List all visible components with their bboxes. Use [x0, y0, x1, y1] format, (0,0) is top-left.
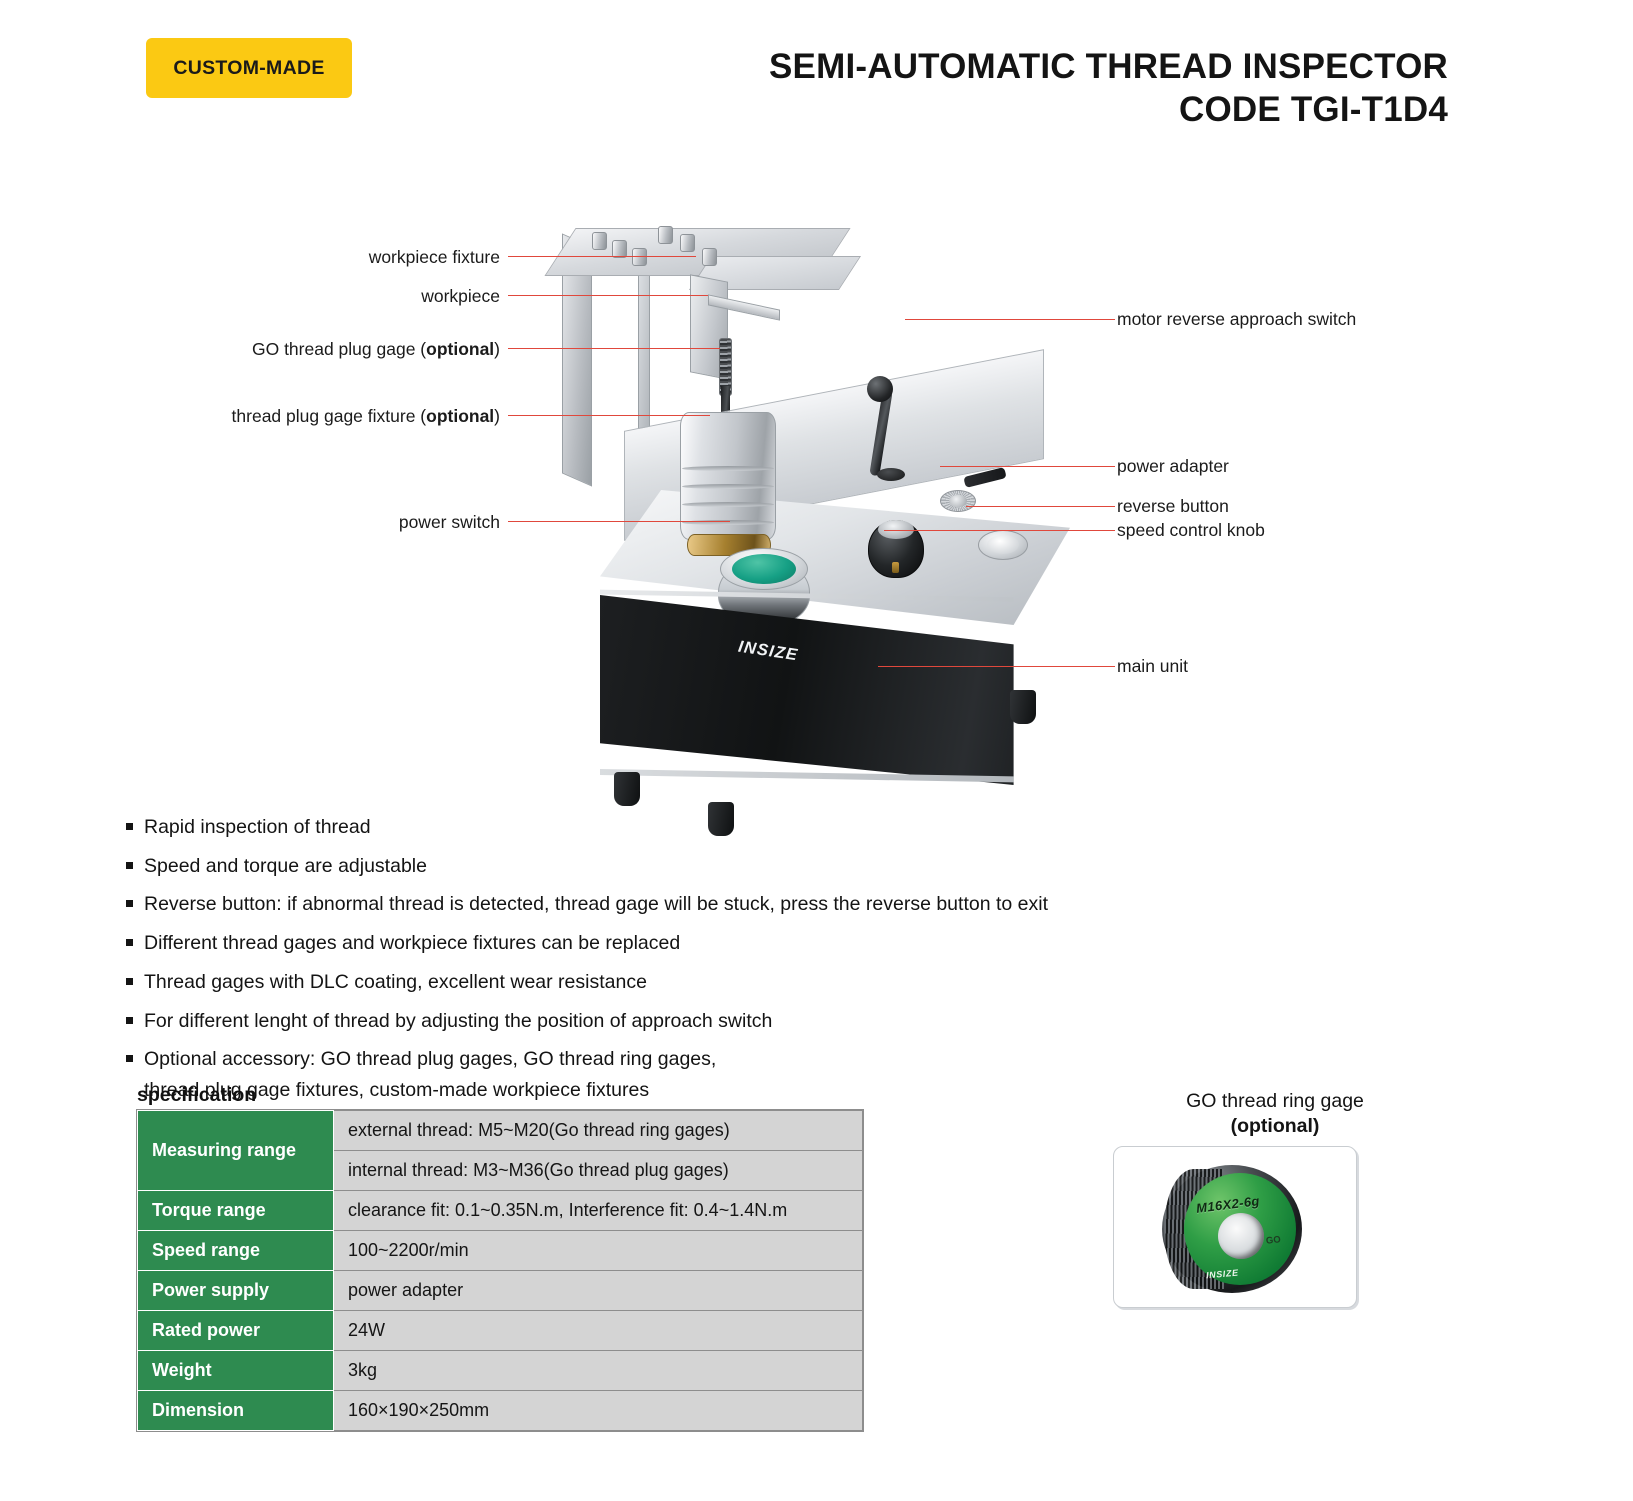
callout-reverse-button: reverse button: [1117, 498, 1229, 516]
table-row: Rated power 24W: [138, 1311, 863, 1351]
machine-drawing: INSIZE: [540, 190, 1100, 810]
go-thread-ring-gage: M16X2-6g GO INSIZE: [1162, 1165, 1302, 1293]
product-illustration: INSIZE workpiece fixture workpiece GO th…: [0, 170, 1633, 820]
feature-item: Optional accessory: GO thread plug gages…: [126, 1044, 1226, 1104]
feature-item: Thread gages with DLC coating, excellent…: [126, 967, 1226, 997]
accessory-caption: GO thread ring gage (optional): [1090, 1089, 1460, 1140]
leader-line: [940, 466, 1115, 467]
specification-table: Measuring range external thread: M5~M20(…: [137, 1110, 863, 1431]
accessory-caption-line2: (optional): [1231, 1115, 1320, 1137]
spec-value: 24W: [334, 1311, 863, 1351]
page-title-line1: SEMI-AUTOMATIC THREAD INSPECTOR: [769, 46, 1448, 89]
spec-key: Measuring range: [138, 1111, 334, 1191]
page-title: SEMI-AUTOMATIC THREAD INSPECTOR CODE TGI…: [769, 46, 1448, 131]
table-row: Weight 3kg: [138, 1351, 863, 1391]
bolt-cap-icon: [658, 226, 673, 244]
cylinder-groove: [682, 502, 774, 507]
page-title-line2: CODE TGI-T1D4: [769, 89, 1448, 132]
spec-key: Rated power: [138, 1311, 334, 1351]
lever-knob: [867, 376, 893, 402]
accessory-image-frame: M16X2-6g GO INSIZE: [1113, 1146, 1357, 1308]
bolt-cap-icon: [702, 248, 717, 266]
bolt-cap-icon: [680, 234, 695, 252]
spec-key: Power supply: [138, 1271, 334, 1311]
table-row: Torque range clearance fit: 0.1~0.35N.m,…: [138, 1191, 863, 1231]
spec-key: Weight: [138, 1351, 334, 1391]
bolt-cap-icon: [632, 248, 647, 266]
leader-line: [905, 319, 1115, 320]
bolt-cap-icon: [592, 232, 607, 250]
accessory-caption-line1: GO thread ring gage: [1090, 1089, 1460, 1114]
spec-key: Speed range: [138, 1231, 334, 1271]
speed-knob-pointer: [892, 562, 899, 573]
ring-gage-bore: [1218, 1213, 1264, 1259]
spec-value: 100~2200r/min: [334, 1231, 863, 1271]
callout-workpiece-fixture: workpiece fixture: [80, 249, 500, 267]
callout-thread-plug-gage-fixture: thread plug gage fixture (optional): [40, 408, 500, 426]
leader-line: [884, 530, 1115, 531]
table-row: Speed range 100~2200r/min: [138, 1231, 863, 1271]
leader-line: [508, 256, 696, 257]
spec-value: clearance fit: 0.1~0.35N.m, Interference…: [334, 1191, 863, 1231]
leader-line: [508, 295, 708, 296]
leader-line: [508, 521, 730, 522]
callout-power-adapter: power adapter: [1117, 458, 1229, 476]
custom-made-badge: CUSTOM-MADE: [146, 38, 352, 98]
cylinder-groove: [682, 466, 774, 471]
callout-workpiece: workpiece: [80, 288, 500, 306]
lever-foot: [877, 468, 905, 481]
spec-key: Dimension: [138, 1391, 334, 1431]
datasheet-page: CUSTOM-MADE SEMI-AUTOMATIC THREAD INSPEC…: [0, 0, 1633, 1501]
feature-item: For different lenght of thread by adjust…: [126, 1006, 1226, 1036]
spec-value: external thread: M5~M20(Go thread ring g…: [334, 1111, 863, 1151]
spec-key: Torque range: [138, 1191, 334, 1231]
specification-heading: specification: [137, 1084, 256, 1107]
spec-value: power adapter: [334, 1271, 863, 1311]
spec-value: 160×190×250mm: [334, 1391, 863, 1431]
custom-made-badge-label: CUSTOM-MADE: [173, 57, 324, 80]
callout-power-switch: power switch: [200, 514, 500, 532]
leader-line: [508, 415, 710, 416]
machine-foot: [614, 772, 640, 806]
leader-line: [966, 506, 1115, 507]
feature-item: Reverse button: if abnormal thread is de…: [126, 889, 1226, 919]
reverse-button-cap: [987, 535, 1019, 554]
leader-line: [508, 348, 720, 349]
callout-motor-reverse-approach-switch: motor reverse approach switch: [1117, 311, 1356, 329]
table-row: Power supply power adapter: [138, 1271, 863, 1311]
callout-main-unit: main unit: [1117, 658, 1188, 676]
feature-item: Different thread gages and workpiece fix…: [126, 928, 1226, 958]
ring-gage-go-mark: GO: [1265, 1234, 1281, 1246]
power-switch: [732, 554, 796, 584]
feature-list: Rapid inspection of thread Speed and tor…: [126, 812, 1226, 1113]
power-adapter-core: [949, 495, 967, 507]
main-unit: [600, 595, 1070, 785]
machine-foot: [1010, 690, 1036, 724]
spec-value: internal thread: M3~M36(Go thread plug g…: [334, 1151, 863, 1191]
feature-item: Speed and torque are adjustable: [126, 851, 1226, 881]
cylinder-groove: [682, 484, 774, 489]
callout-speed-control-knob: speed control knob: [1117, 522, 1265, 540]
table-row: Dimension 160×190×250mm: [138, 1391, 863, 1431]
spec-value: 3kg: [334, 1351, 863, 1391]
feature-item: Rapid inspection of thread: [126, 812, 1226, 842]
leader-line: [878, 666, 1115, 667]
callout-go-thread-plug-gage: GO thread plug gage (optional): [60, 341, 500, 359]
table-row: Measuring range external thread: M5~M20(…: [138, 1111, 863, 1151]
